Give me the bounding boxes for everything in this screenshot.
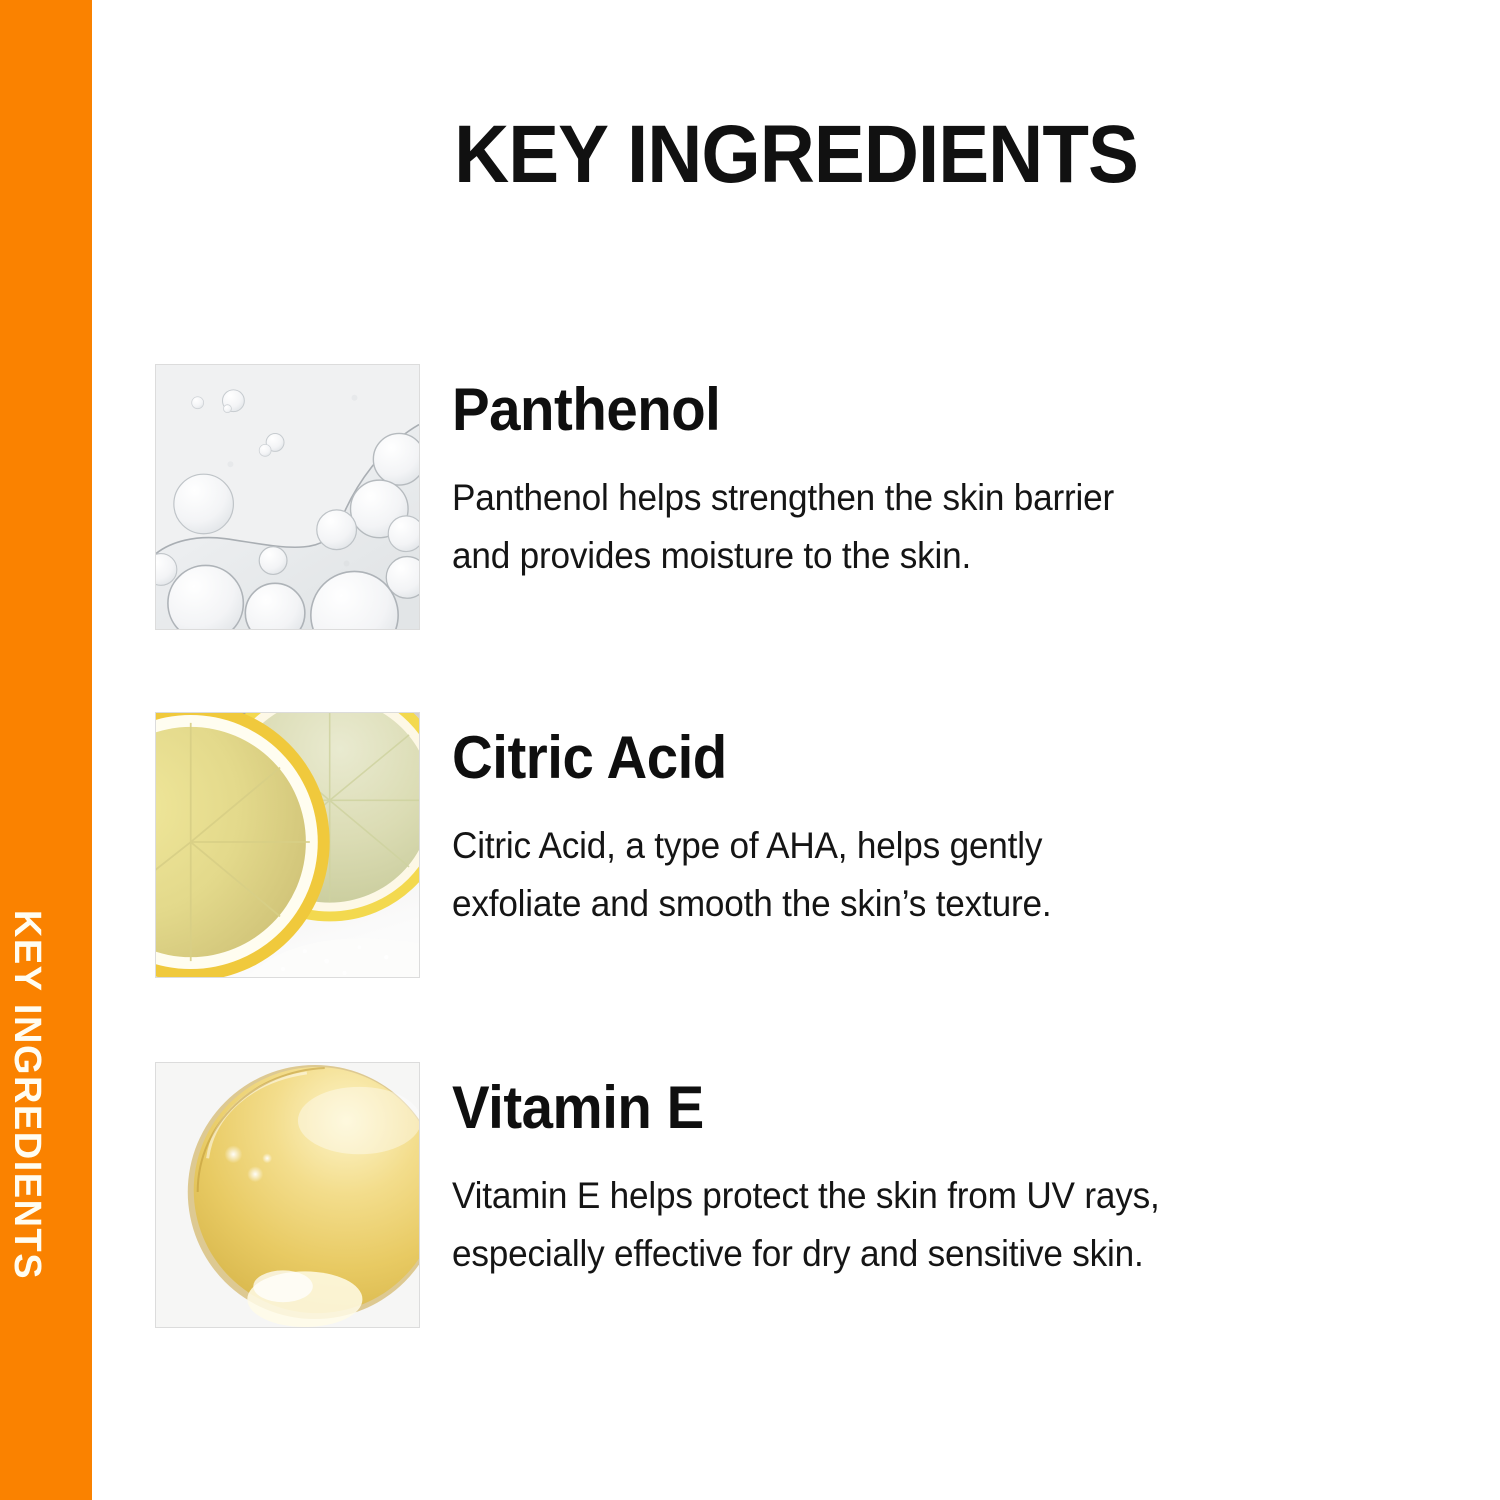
ingredient-description: Vitamin E helps protect the skin from UV…: [452, 1167, 1364, 1284]
ingredient-text: Vitamin E Vitamin E helps protect the sk…: [452, 1062, 1412, 1328]
ingredient-image-vitamin-e: [155, 1062, 420, 1328]
ingredient-text: Citric Acid Citric Acid, a type of AHA, …: [452, 712, 1412, 978]
ingredient-row: Vitamin E Vitamin E helps protect the sk…: [155, 1062, 1415, 1328]
ingredient-description: Citric Acid, a type of AHA, helps gently…: [452, 817, 1364, 934]
ingredient-image-citric-acid: [155, 712, 420, 978]
ingredient-image-panthenol: [155, 364, 420, 630]
ingredient-list: Panthenol Panthenol helps strengthen the…: [0, 0, 1500, 1500]
ingredient-text: Panthenol Panthenol helps strengthen the…: [452, 364, 1412, 630]
ingredient-title: Citric Acid: [452, 726, 1354, 789]
ingredient-row: Panthenol Panthenol helps strengthen the…: [155, 364, 1415, 630]
ingredient-title: Vitamin E: [452, 1076, 1354, 1139]
ingredient-row: Citric Acid Citric Acid, a type of AHA, …: [155, 712, 1415, 978]
key-ingredients-page: KEY INGREDIENTS KEY INGREDIENTS: [0, 0, 1500, 1500]
ingredient-title: Panthenol: [452, 378, 1354, 441]
ingredient-description: Panthenol helps strengthen the skin barr…: [452, 469, 1364, 586]
